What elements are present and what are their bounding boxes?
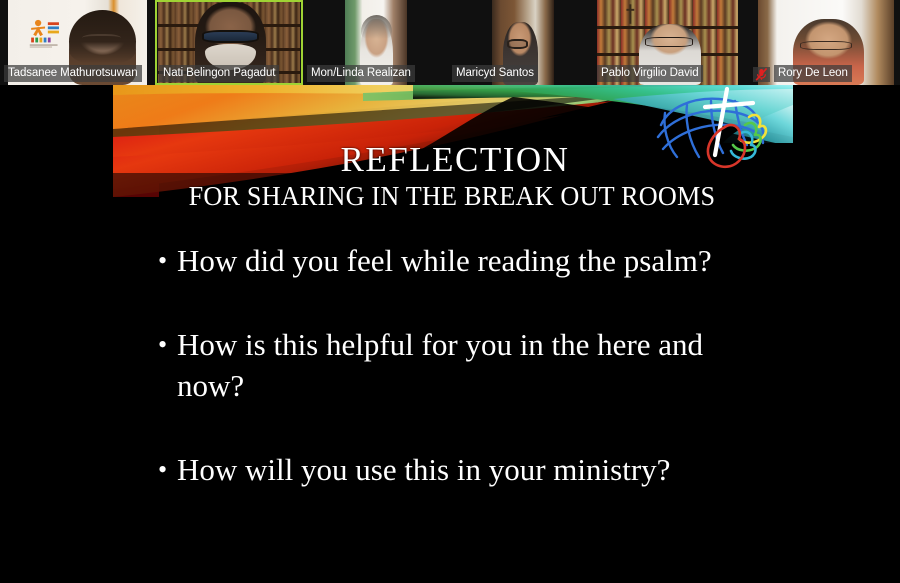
bullet-marker-icon: • — [158, 240, 177, 281]
participant-filmstrip: Tadsanee Mathurotsuwan Nati Belingon Pag… — [0, 0, 900, 85]
participant-tile[interactable]: Pablo Virgilio David — [593, 0, 748, 85]
slide-banner-artwork — [113, 85, 793, 197]
bullet-marker-icon: • — [158, 449, 177, 490]
screen-share-view: Tadsanee Mathurotsuwan Nati Belingon Pag… — [0, 0, 900, 583]
participant-tile[interactable]: Mon/Linda Realizan — [303, 0, 448, 85]
list-item: • How is this helpful for you in the her… — [158, 324, 858, 406]
participant-tile[interactable]: Rory De Leon — [748, 0, 900, 85]
presentation-slide: REFLECTION FOR SHARING IN THE BREAK OUT … — [0, 85, 900, 583]
participant-name-label: Nati Belingon Pagadut — [159, 65, 279, 82]
participant-tile[interactable]: Maricyd Santos — [448, 0, 593, 85]
participant-hair — [361, 15, 392, 39]
participant-name-label: Mon/Linda Realizan — [307, 65, 415, 82]
list-item: • How will you use this in your ministry… — [158, 449, 858, 490]
participant-glasses — [800, 41, 852, 50]
bullet-text: How will you use this in your ministry? — [177, 449, 722, 490]
bullet-text: How is this helpful for you in the here … — [177, 324, 722, 406]
participant-tile[interactable]: Tadsanee Mathurotsuwan — [0, 0, 155, 85]
participant-glasses — [645, 37, 693, 46]
participant-name-label: Maricyd Santos — [452, 65, 538, 82]
slide-bullet-list: • How did you feel while reading the psa… — [158, 240, 858, 533]
participant-name-label: Rory De Leon — [774, 65, 852, 82]
participant-name-label: Pablo Virgilio David — [597, 65, 703, 82]
participant-glasses — [507, 39, 528, 49]
bullet-marker-icon: • — [158, 324, 177, 365]
background-logo — [27, 12, 69, 56]
participant-tile[interactable]: Nati Belingon Pagadut — [155, 0, 303, 85]
cross-ornament — [624, 3, 637, 25]
participant-name-label: Tadsanee Mathurotsuwan — [4, 65, 142, 82]
microphone-muted-icon — [753, 67, 770, 82]
bullet-text: How did you feel while reading the psalm… — [177, 240, 722, 281]
participant-glasses — [202, 30, 259, 44]
list-item: • How did you feel while reading the psa… — [158, 240, 858, 281]
participant-glasses — [82, 34, 121, 44]
